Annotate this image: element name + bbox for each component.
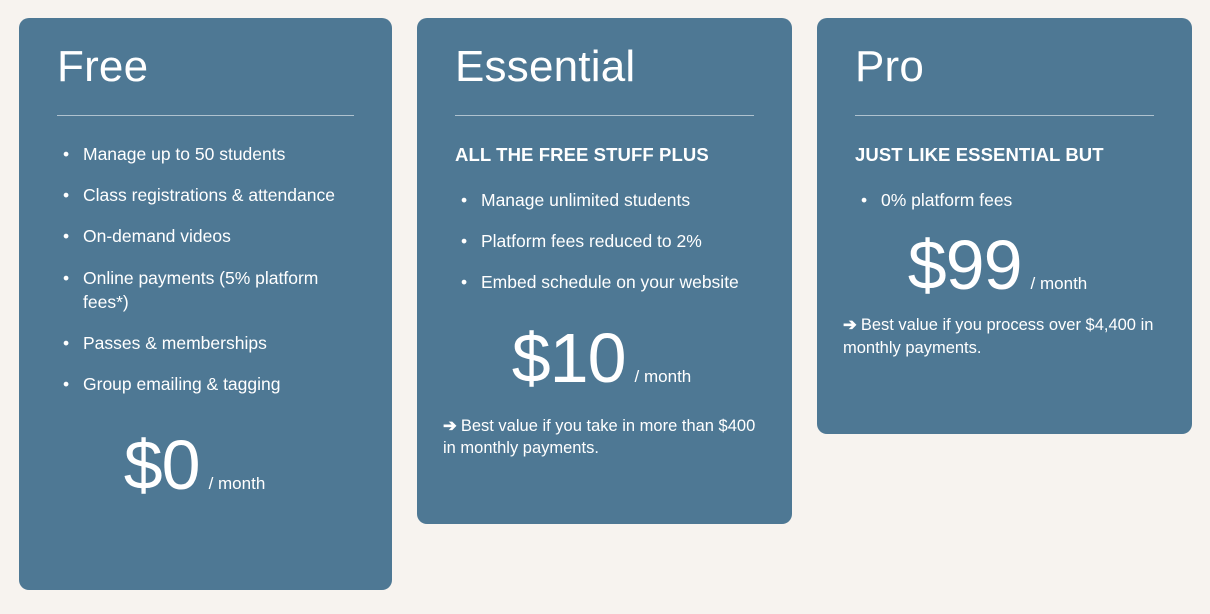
- plan-note-text: Best value if you process over $4,400 in…: [843, 316, 1153, 357]
- bullet-icon: •: [63, 224, 69, 248]
- feature-label: Platform fees reduced to 2%: [481, 231, 702, 251]
- feature-label: Manage unlimited students: [481, 190, 690, 210]
- plan-note-pro: ➔Best value if you process over $4,400 i…: [843, 314, 1166, 360]
- arrow-right-icon: ➔: [443, 417, 457, 435]
- feature-label: Passes & memberships: [83, 333, 267, 353]
- plan-subtitle-essential: ALL THE FREE STUFF PLUS: [455, 144, 766, 166]
- plan-card-essential[interactable]: Essential ALL THE FREE STUFF PLUS • Mana…: [417, 18, 792, 524]
- bullet-icon: •: [63, 142, 69, 166]
- plan-title-essential: Essential: [455, 44, 766, 90]
- price-period: / month: [1031, 274, 1088, 294]
- price-amount: $0: [124, 430, 200, 500]
- bullet-icon: •: [63, 266, 69, 290]
- feature-item: • On-demand videos: [45, 224, 366, 248]
- feature-label: On-demand videos: [83, 226, 231, 246]
- feature-label: Group emailing & tagging: [83, 374, 280, 394]
- feature-list-essential: • Manage unlimited students • Platform f…: [443, 188, 766, 294]
- feature-item: • Group emailing & tagging: [45, 372, 366, 396]
- plan-card-pro[interactable]: Pro JUST LIKE ESSENTIAL BUT • 0% platfor…: [817, 18, 1192, 434]
- feature-label: 0% platform fees: [881, 190, 1012, 210]
- bullet-icon: •: [63, 183, 69, 207]
- price-block-pro: $99 / month: [843, 230, 1166, 300]
- feature-label: Class registrations & attendance: [83, 185, 335, 205]
- price-period: / month: [635, 367, 692, 387]
- feature-item: • Embed schedule on your website: [443, 270, 766, 294]
- price-amount: $10: [512, 323, 626, 393]
- plan-title-pro: Pro: [855, 44, 1166, 90]
- bullet-icon: •: [861, 188, 867, 212]
- feature-item: • Online payments (5% platform fees*): [45, 266, 366, 314]
- arrow-right-icon: ➔: [843, 316, 857, 334]
- price-period: / month: [209, 474, 266, 494]
- price-block-essential: $10 / month: [443, 323, 766, 393]
- plan-divider-essential: [455, 115, 754, 116]
- feature-item: • Passes & memberships: [45, 331, 366, 355]
- feature-label: Online payments (5% platform fees*): [83, 268, 318, 312]
- price-block-free: $0 / month: [45, 430, 366, 500]
- feature-label: Embed schedule on your website: [481, 272, 739, 292]
- bullet-icon: •: [461, 188, 467, 212]
- feature-item: • 0% platform fees: [843, 188, 1166, 212]
- plan-card-free[interactable]: Free • Manage up to 50 students • Class …: [19, 18, 392, 590]
- feature-item: • Manage unlimited students: [443, 188, 766, 212]
- bullet-icon: •: [63, 331, 69, 355]
- plan-divider-pro: [855, 115, 1154, 116]
- feature-item: • Manage up to 50 students: [45, 142, 366, 166]
- feature-label: Manage up to 50 students: [83, 144, 285, 164]
- plan-note-essential: ➔Best value if you take in more than $40…: [443, 415, 766, 461]
- feature-list-pro: • 0% platform fees: [843, 188, 1166, 212]
- feature-item: • Class registrations & attendance: [45, 183, 366, 207]
- pricing-plans-container: Free • Manage up to 50 students • Class …: [0, 0, 1210, 614]
- bullet-icon: •: [63, 372, 69, 396]
- feature-list-free: • Manage up to 50 students • Class regis…: [45, 142, 366, 396]
- plan-divider-free: [57, 115, 354, 116]
- plan-title-free: Free: [57, 44, 366, 90]
- plan-subtitle-pro: JUST LIKE ESSENTIAL BUT: [855, 144, 1166, 166]
- price-amount: $99: [908, 230, 1022, 300]
- bullet-icon: •: [461, 229, 467, 253]
- plan-note-text: Best value if you take in more than $400…: [443, 417, 755, 458]
- bullet-icon: •: [461, 270, 467, 294]
- feature-item: • Platform fees reduced to 2%: [443, 229, 766, 253]
